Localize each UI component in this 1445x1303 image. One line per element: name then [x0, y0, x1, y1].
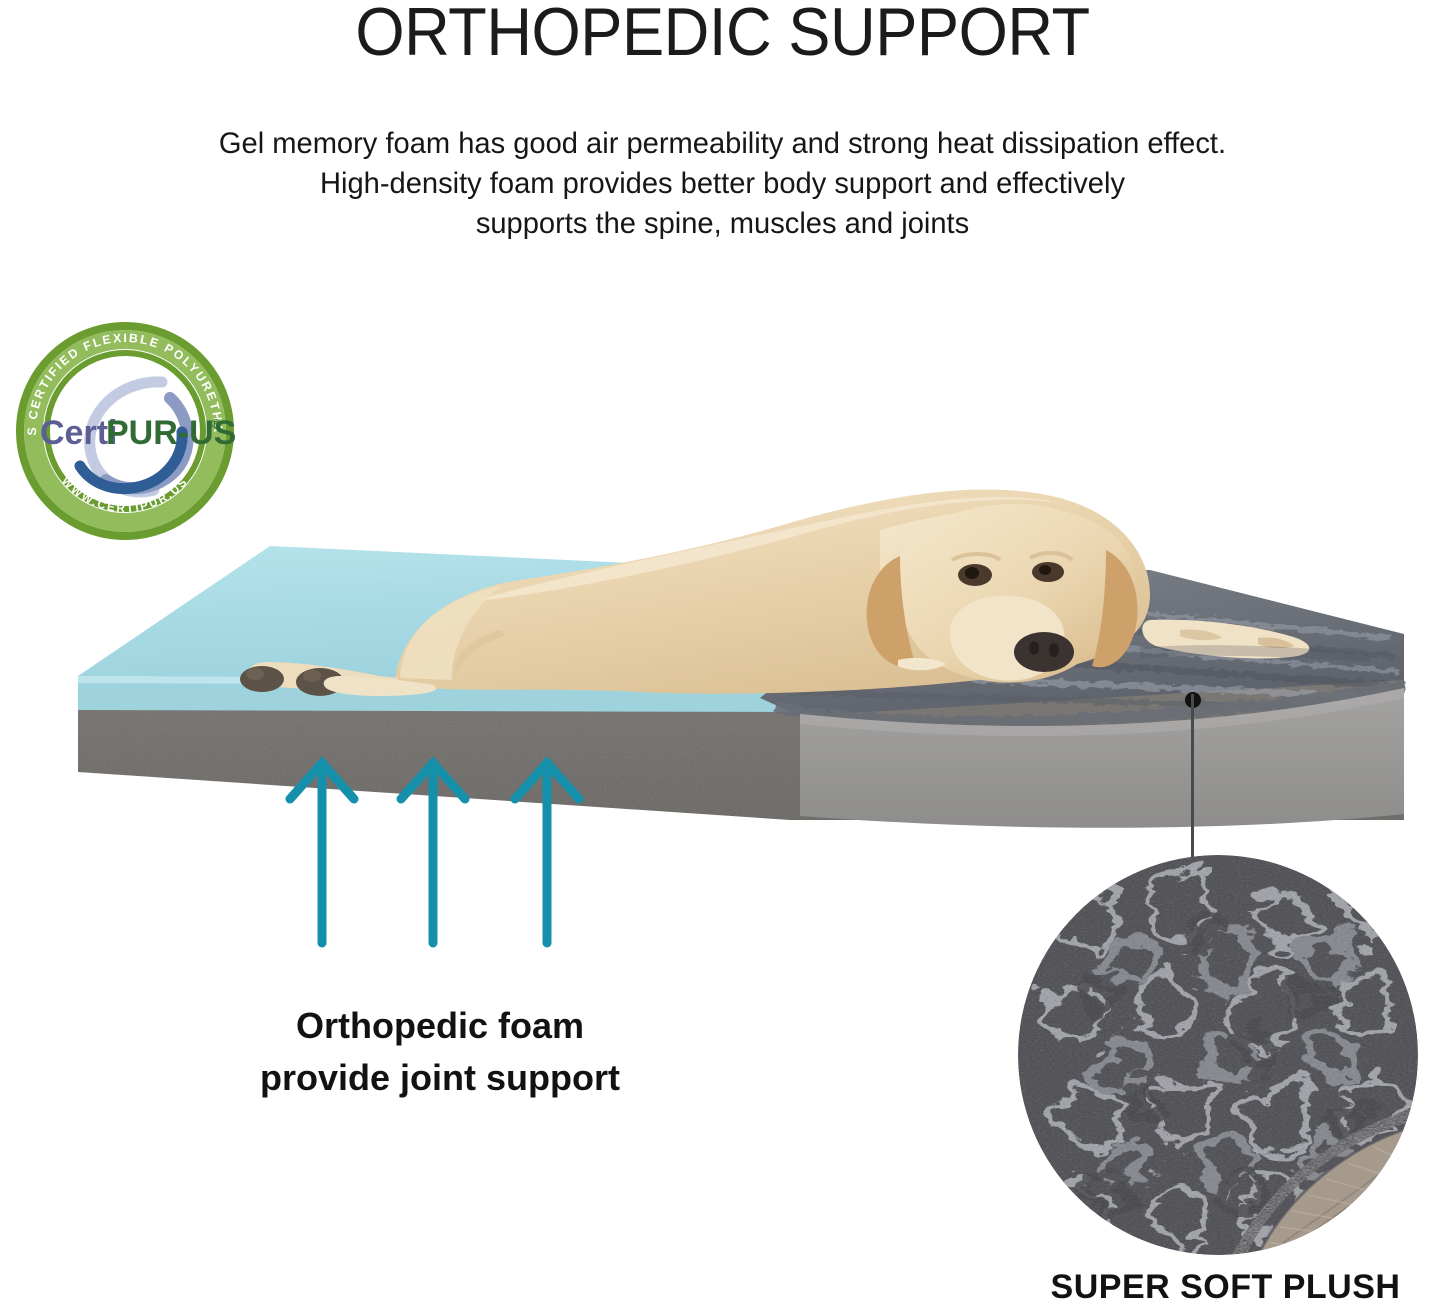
description-line-2: High-density foam provides better body s…: [22, 164, 1424, 204]
description-line-1: Gel memory foam has good air permeabilit…: [22, 124, 1424, 164]
support-arrow-1: [290, 763, 354, 943]
foam-caption-line-2: provide joint support: [180, 1052, 700, 1104]
plush-fabric-closeup: [1018, 855, 1418, 1255]
support-arrow-3: [515, 763, 579, 943]
description-paragraph: Gel memory foam has good air permeabilit…: [22, 124, 1424, 244]
support-force-arrows: [270, 745, 610, 960]
plush-callout-leader-line: [1191, 694, 1194, 860]
page-title: ORTHOPEDIC SUPPORT: [51, 0, 1395, 68]
plush-caption-label: SUPER SOFT PLUSH: [1006, 1268, 1445, 1303]
description-line-3: supports the spine, muscles and joints: [22, 204, 1424, 244]
support-arrow-2: [401, 763, 465, 943]
dog-bed-cutaway-illustration: [0, 380, 1445, 850]
product-infographic: ORTHOPEDIC SUPPORT Gel memory foam has g…: [0, 0, 1445, 1303]
orthopedic-foam-caption: Orthopedic foam provide joint support: [180, 1000, 700, 1104]
foam-caption-line-1: Orthopedic foam: [180, 1000, 700, 1052]
